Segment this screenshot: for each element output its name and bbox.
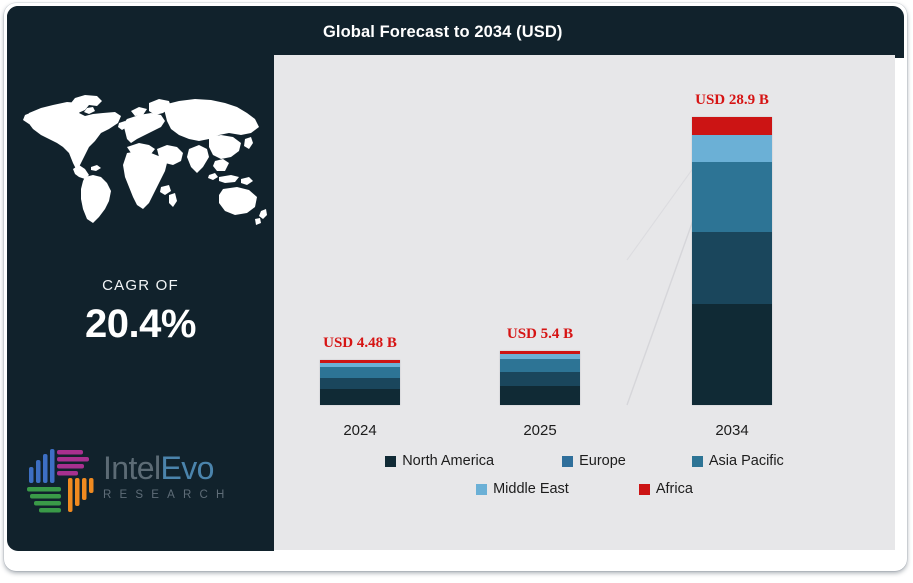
- brand-name-part1: Intel: [103, 450, 161, 486]
- legend-label: Europe: [579, 453, 626, 469]
- cagr-label: CAGR OF: [7, 277, 274, 294]
- chart-legend: North AmericaEuropeAsia Pacific Middle E…: [274, 453, 895, 509]
- legend-row-primary: North AmericaEuropeAsia Pacific: [274, 453, 895, 469]
- legend-label: North America: [402, 453, 494, 469]
- stacked-bar: [500, 351, 580, 405]
- legend-color-swatch: [562, 456, 573, 467]
- legend-label: Asia Pacific: [709, 453, 784, 469]
- legend-color-swatch: [639, 484, 650, 495]
- infographic-canvas: Global Forecast to 2034 (USD): [0, 0, 913, 583]
- bar-value-label: USD 28.9 B: [662, 92, 802, 109]
- bar-segment: [500, 359, 580, 372]
- legend-item[interactable]: Middle East: [476, 481, 569, 497]
- bar-category-label: 2024: [290, 422, 430, 439]
- cagr-value: 20.4%: [7, 302, 274, 347]
- legend-item[interactable]: Africa: [639, 481, 693, 497]
- legend-color-swatch: [692, 456, 703, 467]
- bar-value-label: USD 4.48 B: [290, 335, 430, 352]
- bar-segment: [500, 372, 580, 386]
- bar-segment: [692, 304, 772, 405]
- brand-subtitle: RESEARCH: [103, 487, 273, 503]
- legend-label: Middle East: [493, 481, 569, 497]
- legend-item[interactable]: Europe: [562, 453, 626, 469]
- bar-segment: [692, 135, 772, 162]
- pinwheel-bars-logo-icon: [23, 445, 101, 521]
- bar-category-label: 2025: [470, 422, 610, 439]
- chart-plot-area: USD 4.48 B2024USD 5.4 B2025USD 28.9 B203…: [274, 55, 895, 550]
- bar-segment: [692, 162, 772, 232]
- bar-segment: [500, 386, 580, 405]
- bar-segment: [320, 367, 400, 377]
- legend-color-swatch: [385, 456, 396, 467]
- brand-logo: IntelEvo RESEARCH: [23, 443, 271, 521]
- brand-name-part2: Evo: [161, 450, 214, 486]
- bar-category-label: 2034: [662, 422, 802, 439]
- brand-logo-text: IntelEvo RESEARCH: [103, 449, 273, 503]
- legend-color-swatch: [476, 484, 487, 495]
- bar-segment: [692, 117, 772, 135]
- stacked-bar: [320, 360, 400, 405]
- stacked-bar: [692, 117, 772, 405]
- legend-row-secondary: Middle EastAfrica: [274, 481, 895, 497]
- bar-segment: [692, 232, 772, 305]
- legend-item[interactable]: North America: [385, 453, 494, 469]
- bar-segment: [320, 378, 400, 389]
- bar-segment: [320, 389, 400, 405]
- page-title: Global Forecast to 2034 (USD): [323, 23, 562, 42]
- brand-name: IntelEvo: [103, 449, 273, 487]
- world-map-icon: [23, 91, 267, 226]
- legend-label: Africa: [656, 481, 693, 497]
- bar-value-label: USD 5.4 B: [470, 326, 610, 343]
- sidebar-panel: CAGR OF 20.4%: [7, 6, 274, 551]
- legend-item[interactable]: Asia Pacific: [692, 453, 784, 469]
